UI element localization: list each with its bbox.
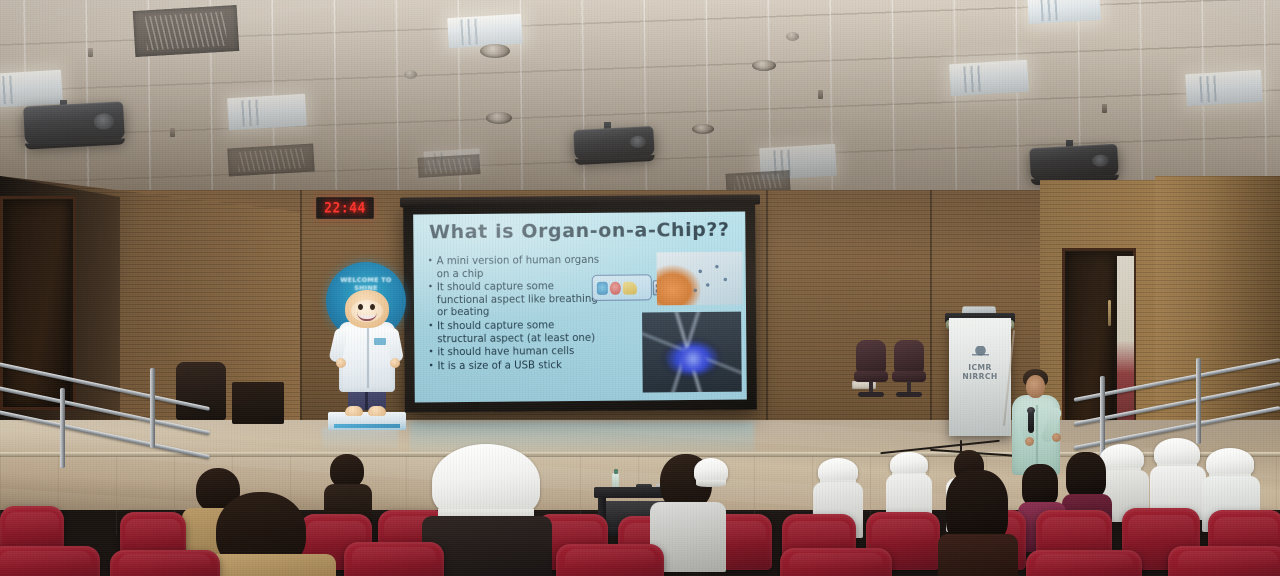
slide-bullet: it should have human cells	[428, 346, 606, 360]
white-cap	[694, 458, 728, 484]
podium-organisation-name: ICMR NIRRCH	[955, 363, 1005, 381]
mascot-eye-left	[358, 304, 363, 310]
mascot-eye-right	[370, 304, 375, 310]
chair-backrest	[894, 340, 924, 373]
mascot-hand-right	[390, 358, 400, 368]
chair-base	[858, 392, 884, 397]
stage-office-chair[interactable]	[892, 340, 926, 400]
organ-chip-usb-diagram	[592, 274, 652, 301]
speaker-head	[1026, 375, 1045, 398]
audience-torso	[938, 534, 1018, 576]
audience-hair	[1022, 464, 1058, 506]
auditorium-photo: 22:44 What is Organ-on-a-Chip?? A mini v…	[0, 0, 1280, 576]
audience-head	[330, 454, 364, 488]
chair-base	[896, 392, 922, 397]
door-handle[interactable]	[1108, 300, 1111, 326]
audience-hair	[946, 470, 1008, 544]
white-cap	[432, 444, 540, 520]
stage-office-chair[interactable]	[854, 340, 888, 400]
standee-banner-line1: WELCOME TO	[340, 276, 391, 284]
audience-seating-area	[0, 410, 1280, 576]
institute-emblem-icon	[972, 346, 989, 361]
mascot-hand-left	[336, 358, 346, 368]
white-cap	[818, 458, 858, 484]
auditorium-seat-front[interactable]	[1026, 550, 1142, 576]
railing-bar	[0, 361, 210, 411]
auditorium-seat-front[interactable]	[110, 550, 220, 576]
slide-bullet: A mini version of human organs on a chip	[428, 255, 606, 282]
auditorium-seat-front[interactable]	[1168, 546, 1280, 576]
auditorium-seat-front[interactable]	[0, 546, 100, 576]
white-cap	[890, 452, 928, 476]
audience-hair	[1066, 452, 1106, 498]
illuminated-chip-photo	[642, 312, 742, 393]
slide-bullet: It should capture some structural aspect…	[428, 320, 606, 347]
led-clock-digits: 22:44	[324, 200, 366, 217]
led-wall-clock: 22:44	[316, 197, 374, 219]
slide-bullet: It is a size of a USB stick	[428, 360, 606, 374]
mascot-standee: WELCOME TO SHINE	[318, 262, 414, 430]
auditorium-seat-front[interactable]	[344, 542, 444, 576]
wall-seam	[930, 190, 932, 430]
white-cap	[1206, 448, 1254, 478]
liver-icon	[623, 281, 637, 294]
podium-logo: ICMR NIRRCH	[955, 346, 1005, 381]
mascot-head	[345, 290, 389, 328]
auditorium-seat-front[interactable]	[780, 548, 892, 576]
white-cap	[1154, 438, 1200, 468]
auditorium-seat-front[interactable]	[556, 544, 664, 576]
mascot-badge-icon	[374, 338, 386, 345]
presentation-slide: What is Organ-on-a-Chip?? A mini version…	[413, 212, 747, 403]
slide-bullet-list: A mini version of human organs on a chip…	[428, 255, 607, 375]
chair-backrest	[856, 340, 886, 373]
lungs-icon	[597, 281, 608, 294]
white-cap	[1100, 444, 1144, 472]
slide-bullet: It should capture some functional aspect…	[428, 281, 606, 320]
projection-screen: What is Organ-on-a-Chip?? A mini version…	[403, 202, 757, 412]
wall-seam	[766, 190, 768, 440]
slide-title: What is Organ-on-a-Chip??	[413, 219, 745, 244]
microfluidic-chip-photo	[657, 252, 743, 306]
heart-icon	[610, 281, 621, 294]
